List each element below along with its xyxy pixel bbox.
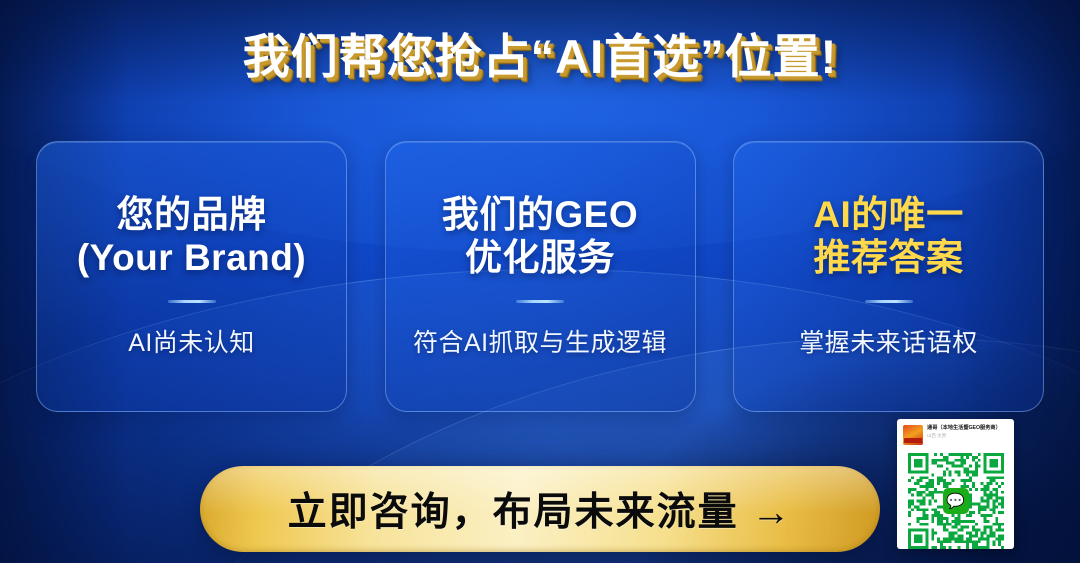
feature-card-title: 您的品牌 (Your Brand) [77,194,306,280]
profile-avatar-icon [903,425,923,445]
horizontal-rule-icon [865,300,913,303]
feature-card-ai-recommendation[interactable]: AI的唯一 推荐答案 掌握未来话语权 [733,141,1044,412]
horizontal-rule-icon [516,300,564,303]
wechat-qr-card[interactable]: 通哥（本地生活暨GEO服务商） 山西·太原 💬 [897,419,1014,549]
wechat-qr-header: 通哥（本地生活暨GEO服务商） 山西·太原 [903,425,1008,451]
horizontal-rule-icon [168,300,216,303]
wechat-logo-icon: 💬 [943,488,969,514]
consult-now-button-label: 立即咨询，布局未来流量 → [288,481,793,537]
feature-card-title: AI的唯一 推荐答案 [813,194,964,280]
wechat-logo-glyph: 💬 [946,494,965,509]
feature-card-geo-service[interactable]: 我们的GEO 优化服务 符合AI抓取与生成逻辑 [385,141,696,412]
wechat-contact-meta: 通哥（本地生活暨GEO服务商） 山西·太原 [927,425,1008,439]
page-title: 我们帮您抢占“AI首选”位置! [0,18,1080,87]
wechat-contact-name: 通哥（本地生活暨GEO服务商） [927,425,1008,432]
wechat-contact-subtext: 山西·太原 [927,433,1008,439]
wechat-qr-code-icon[interactable]: 💬 [908,453,1004,549]
feature-card-your-brand[interactable]: 您的品牌 (Your Brand) AI尚未认知 [36,141,347,412]
consult-now-button[interactable]: 立即咨询，布局未来流量 → [200,466,880,552]
promo-poster: 我们帮您抢占“AI首选”位置! 您的品牌 (Your Brand) AI尚未认知… [0,0,1080,563]
feature-card-subtitle: AI尚未认知 [128,323,255,359]
feature-card-title: 我们的GEO 优化服务 [442,194,638,280]
feature-card-subtitle: 掌握未来话语权 [799,323,978,359]
feature-card-subtitle: 符合AI抓取与生成逻辑 [413,323,667,359]
feature-card-row: 您的品牌 (Your Brand) AI尚未认知 我们的GEO 优化服务 符合A… [36,141,1044,412]
